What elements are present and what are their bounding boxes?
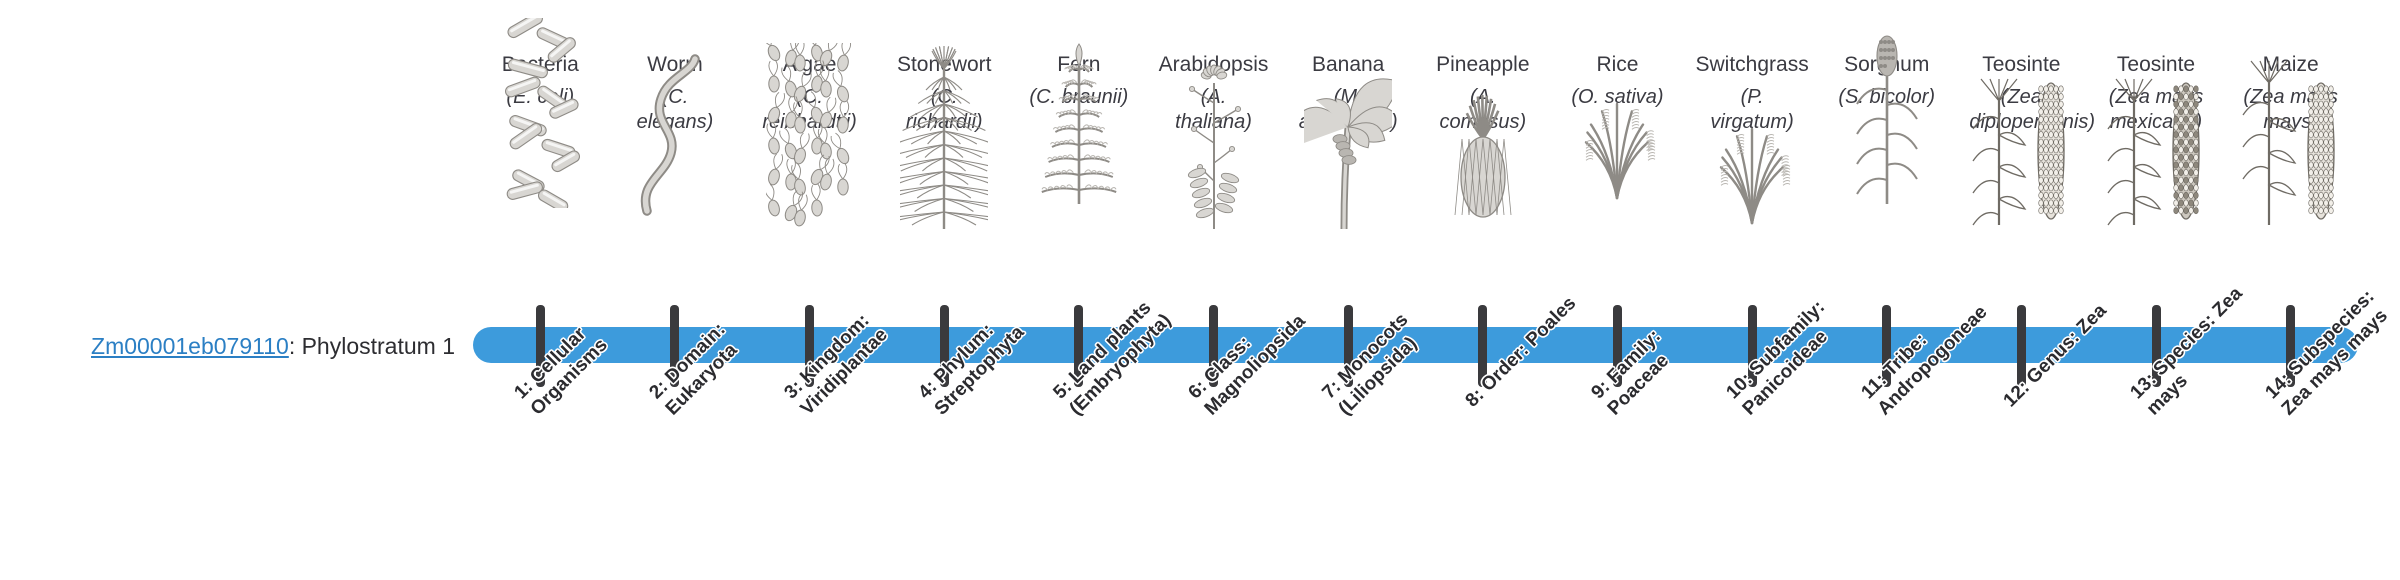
taxonomy-label-layer: 1: Cellular Organisms2: Domain: Eukaryot… (0, 0, 2400, 580)
phylostratum-taxonomy-label: 3: Kingdom: Viridiplantae (779, 282, 918, 421)
phylostratum-rank-name: Subspecies: Zea mays mays (2277, 286, 2391, 419)
phylostratum-rank-name: Tribe: Andropogoneae (1873, 302, 1991, 420)
phylostratum-taxonomy-label: 10: Subfamily: Panicoideae (1722, 282, 1861, 421)
phylostratum-rank-name: Kingdom: Viridiplantae (796, 310, 892, 419)
phylostratum-taxonomy-label: 14: Subspecies: Zea mays mays (2260, 282, 2399, 421)
phylostratum-figure: Bacteria(E. coli)Worm(C. elegans)Algae(C… (0, 0, 2400, 580)
phylostratum-rank-name: Family: Poaceae (1604, 326, 1674, 420)
phylostratum-taxonomy-label: 13: Species: Zea mays (2126, 282, 2265, 421)
phylostratum-number: 12: (2000, 377, 2034, 411)
phylostratum-taxonomy-label: 7: Monocots (Liliopsida) (1318, 282, 1457, 421)
phylostratum-taxonomy-label: 2: Domain: Eukaryota (645, 282, 784, 421)
phylostratum-taxonomy-label: 12: Genus: Zea (1999, 290, 2121, 412)
phylostratum-rank-name: Cellular Organisms (526, 323, 612, 419)
phylostratum-taxonomy-label: 9: Family: Poaceae (1587, 282, 1726, 421)
phylostratum-taxonomy-label: 11: Tribe: Andropogoneae (1856, 282, 1995, 421)
phylostratum-rank-name: Domain: Eukaryota (661, 319, 741, 420)
phylostratum-taxonomy-label: 8: Order: Poales (1461, 290, 1583, 412)
phylostratum-rank-name: Class: Magnoliopsida (1200, 311, 1309, 420)
phylostratum-taxonomy-label: 6: Class: Magnoliopsida (1183, 282, 1322, 421)
phylostratum-taxonomy-label: 1: Cellular Organisms (510, 282, 649, 421)
phylostratum-rank-name: Phylum: Streptophyta (930, 320, 1028, 420)
phylostratum-rank-name: Species: Zea mays (2143, 283, 2247, 419)
phylostratum-rank-name: Land plants (Embryophyta) (1065, 297, 1175, 419)
phylostratum-rank-name: Subfamily: Panicoideae (1739, 297, 1832, 420)
phylostratum-rank-name: Genus: Zea (2023, 300, 2111, 388)
phylostratum-rank-name: Monocots (Liliopsida) (1334, 309, 1421, 419)
phylostratum-taxonomy-label: 4: Phylum: Streptophyta (914, 282, 1053, 421)
phylostratum-taxonomy-label: 5: Land plants (Embryophyta) (1049, 282, 1188, 421)
phylostratum-rank-name: Order: Poales (1477, 293, 1580, 396)
